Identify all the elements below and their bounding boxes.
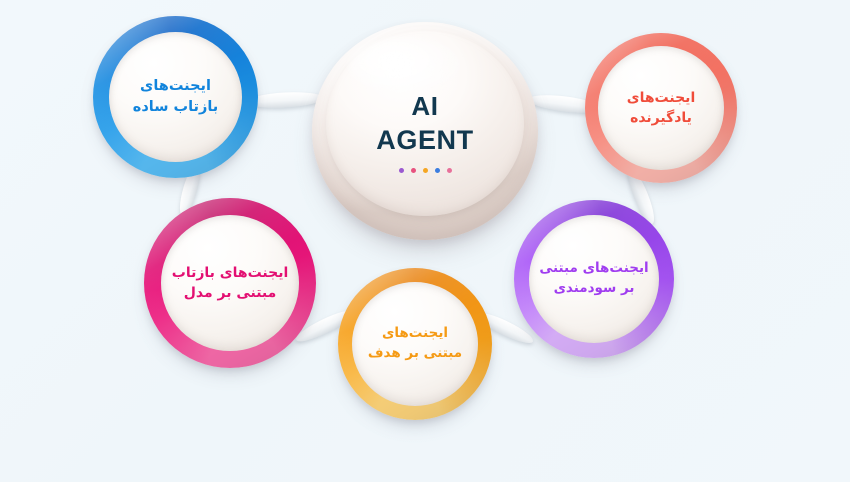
- center-title-line1: AI: [411, 89, 438, 123]
- node-label-line1: ایجنت‌های: [133, 76, 218, 97]
- node-learning-agents[interactable]: ایجنت‌های یادگیرنده: [585, 33, 737, 183]
- node-label-simple-reflex: ایجنت‌های بازتاب ساده: [127, 76, 224, 118]
- node-label-line1: ایجنت‌های مبتنی: [539, 259, 648, 279]
- center-label: AI AGENT: [312, 22, 538, 240]
- node-label-utility: ایجنت‌های مبتنی بر سودمندی: [533, 259, 654, 298]
- dot-purple: [399, 168, 404, 173]
- node-label-learning: ایجنت‌های یادگیرنده: [621, 88, 701, 129]
- center-node-ai-agent[interactable]: AI AGENT: [312, 22, 538, 240]
- node-label-line2: بازتاب ساده: [133, 97, 218, 118]
- dot-rose: [447, 168, 452, 173]
- center-title-line2: AGENT: [376, 123, 474, 159]
- node-label-line1: ایجنت‌های بازتاب: [172, 263, 289, 283]
- node-label-line2: یادگیرنده: [627, 108, 695, 128]
- infographic-canvas: AI AGENT ایجنت‌های بازتاب ساده ایجنت‌های…: [0, 0, 850, 482]
- node-label-goal: ایجنت‌های مبتنی بر هدف: [362, 324, 468, 363]
- node-utility-based-agents[interactable]: ایجنت‌های مبتنی بر سودمندی: [514, 200, 674, 358]
- node-label-line1: ایجنت‌های: [627, 88, 695, 108]
- node-simple-reflex-agents[interactable]: ایجنت‌های بازتاب ساده: [93, 16, 258, 178]
- node-model-based-reflex-agents[interactable]: ایجنت‌های بازتاب مبتنی بر مدل: [144, 198, 316, 368]
- dot-blue: [435, 168, 440, 173]
- node-label-line2: بر سودمندی: [539, 279, 648, 299]
- node-label-line2: مبتنی بر هدف: [368, 344, 462, 364]
- node-label-model-reflex: ایجنت‌های بازتاب مبتنی بر مدل: [166, 263, 295, 304]
- node-goal-based-agents[interactable]: ایجنت‌های مبتنی بر هدف: [338, 268, 492, 420]
- dot-orange: [423, 168, 428, 173]
- dot-pink: [411, 168, 416, 173]
- center-dot-row: [399, 168, 452, 173]
- node-label-line1: ایجنت‌های: [368, 324, 462, 344]
- node-label-line2: مبتنی بر مدل: [172, 283, 289, 303]
